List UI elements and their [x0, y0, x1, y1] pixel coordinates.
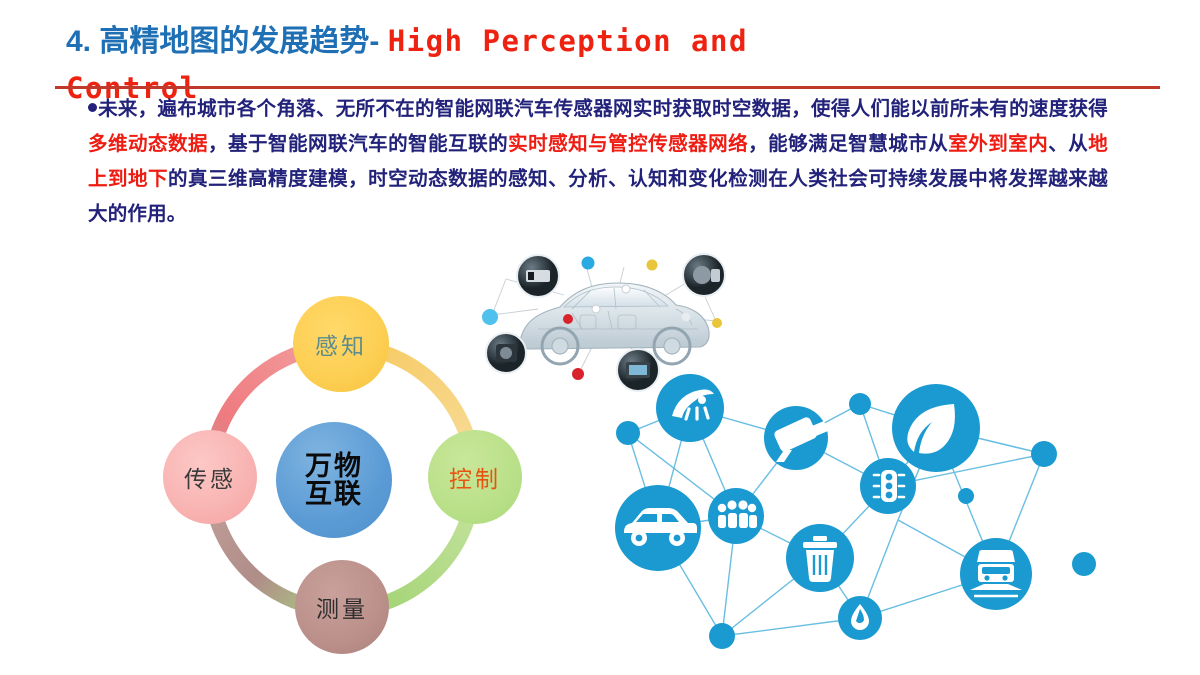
city-icon-car[interactable] [615, 485, 701, 571]
diagram-node-sensor-label: 传感 [184, 460, 236, 494]
body-segment-2: ，基于智能网联汽车的智能互联的 [208, 133, 508, 155]
city-icon-leaf[interactable] [892, 384, 980, 472]
accent-dot-white [622, 285, 630, 293]
accent-dot-cyan [482, 309, 498, 325]
accent-dot-red-2 [572, 368, 584, 380]
city-icon-trash-bin[interactable] [786, 524, 854, 592]
bullet-marker [88, 103, 97, 112]
diagram-node-sense-label: 感知 [315, 327, 367, 361]
body-segment-1: 多维动态数据 [88, 133, 208, 155]
network-node-dot [709, 623, 735, 649]
body-segment-6: 、从 [1048, 133, 1088, 155]
city-icon-traffic-lights[interactable] [860, 458, 916, 514]
accent-dot-grey [682, 313, 691, 322]
accent-dot-yellow [647, 260, 658, 271]
diagram-node-control-label: 控制 [449, 460, 501, 494]
title-line-1: 4. 高精地图的发展趋势- High Perception and [66, 18, 1126, 65]
accent-dot-white-2 [592, 305, 600, 313]
network-node-dot [958, 488, 974, 504]
smart-city-network-diagram [598, 368, 1173, 668]
diagram-node-sensor[interactable]: 传感 [163, 430, 257, 524]
diagram-node-measure-label: 测量 [316, 590, 368, 624]
body-segment-5: 室外到室内 [948, 133, 1048, 155]
diagram-center-label-line1: 万物 [305, 452, 363, 480]
diagram-center-node[interactable]: 万物 互联 [276, 422, 392, 538]
body-paragraph: 未来，遍布城市各个角落、无所不在的智能网联汽车传感器网实时获取时空数据，使得人们… [88, 92, 1108, 232]
diagram-node-control[interactable]: 控制 [428, 430, 522, 524]
title-chinese: 高精地图的发展趋势- [91, 25, 388, 58]
diagram-center-label-line2: 互联 [305, 480, 363, 508]
accent-dot-blue [582, 257, 595, 270]
title-underline-rule [55, 86, 1160, 89]
city-icon-crowd-people[interactable] [708, 488, 764, 544]
city-icon-water-sprinkler[interactable] [656, 374, 724, 442]
network-node-dot [1072, 552, 1096, 576]
body-segment-8: 的真三维高精度建模，时空动态数据的感知、分析、认知和变化检测在人类社会可持续发展… [88, 168, 1108, 225]
city-icon-cctv-camera[interactable] [764, 406, 828, 470]
network-node-dot [1031, 441, 1057, 467]
title-english-line1: High Perception and [388, 24, 748, 58]
body-paragraph-text: 未来，遍布城市各个角落、无所不在的智能网联汽车传感器网实时获取时空数据，使得人们… [88, 98, 1108, 225]
body-segment-0: 未来，遍布城市各个角落、无所不在的智能网联汽车传感器网实时获取时空数据，使得人们… [98, 98, 1108, 120]
accent-dot-yellow-2 [712, 318, 722, 328]
city-icon-train[interactable] [960, 538, 1032, 610]
slide-canvas: 4. 高精地图的发展趋势- High Perception and Contro… [0, 0, 1200, 675]
diagram-node-sense[interactable]: 感知 [293, 296, 389, 392]
network-node-dot [849, 393, 871, 415]
iot-circle-diagram: 感知 传感 控制 测量 万物 互联 [150, 290, 500, 665]
body-segment-3: 实时感知与管控传感器网络 [508, 133, 748, 155]
diagram-node-measure[interactable]: 测量 [295, 560, 389, 654]
network-node-dot [616, 421, 640, 445]
title-number: 4. [66, 25, 91, 58]
city-icon-water-drop[interactable] [838, 596, 882, 640]
body-segment-4: ，能够满足智慧城市从 [748, 133, 948, 155]
accent-dot-red [563, 314, 573, 324]
